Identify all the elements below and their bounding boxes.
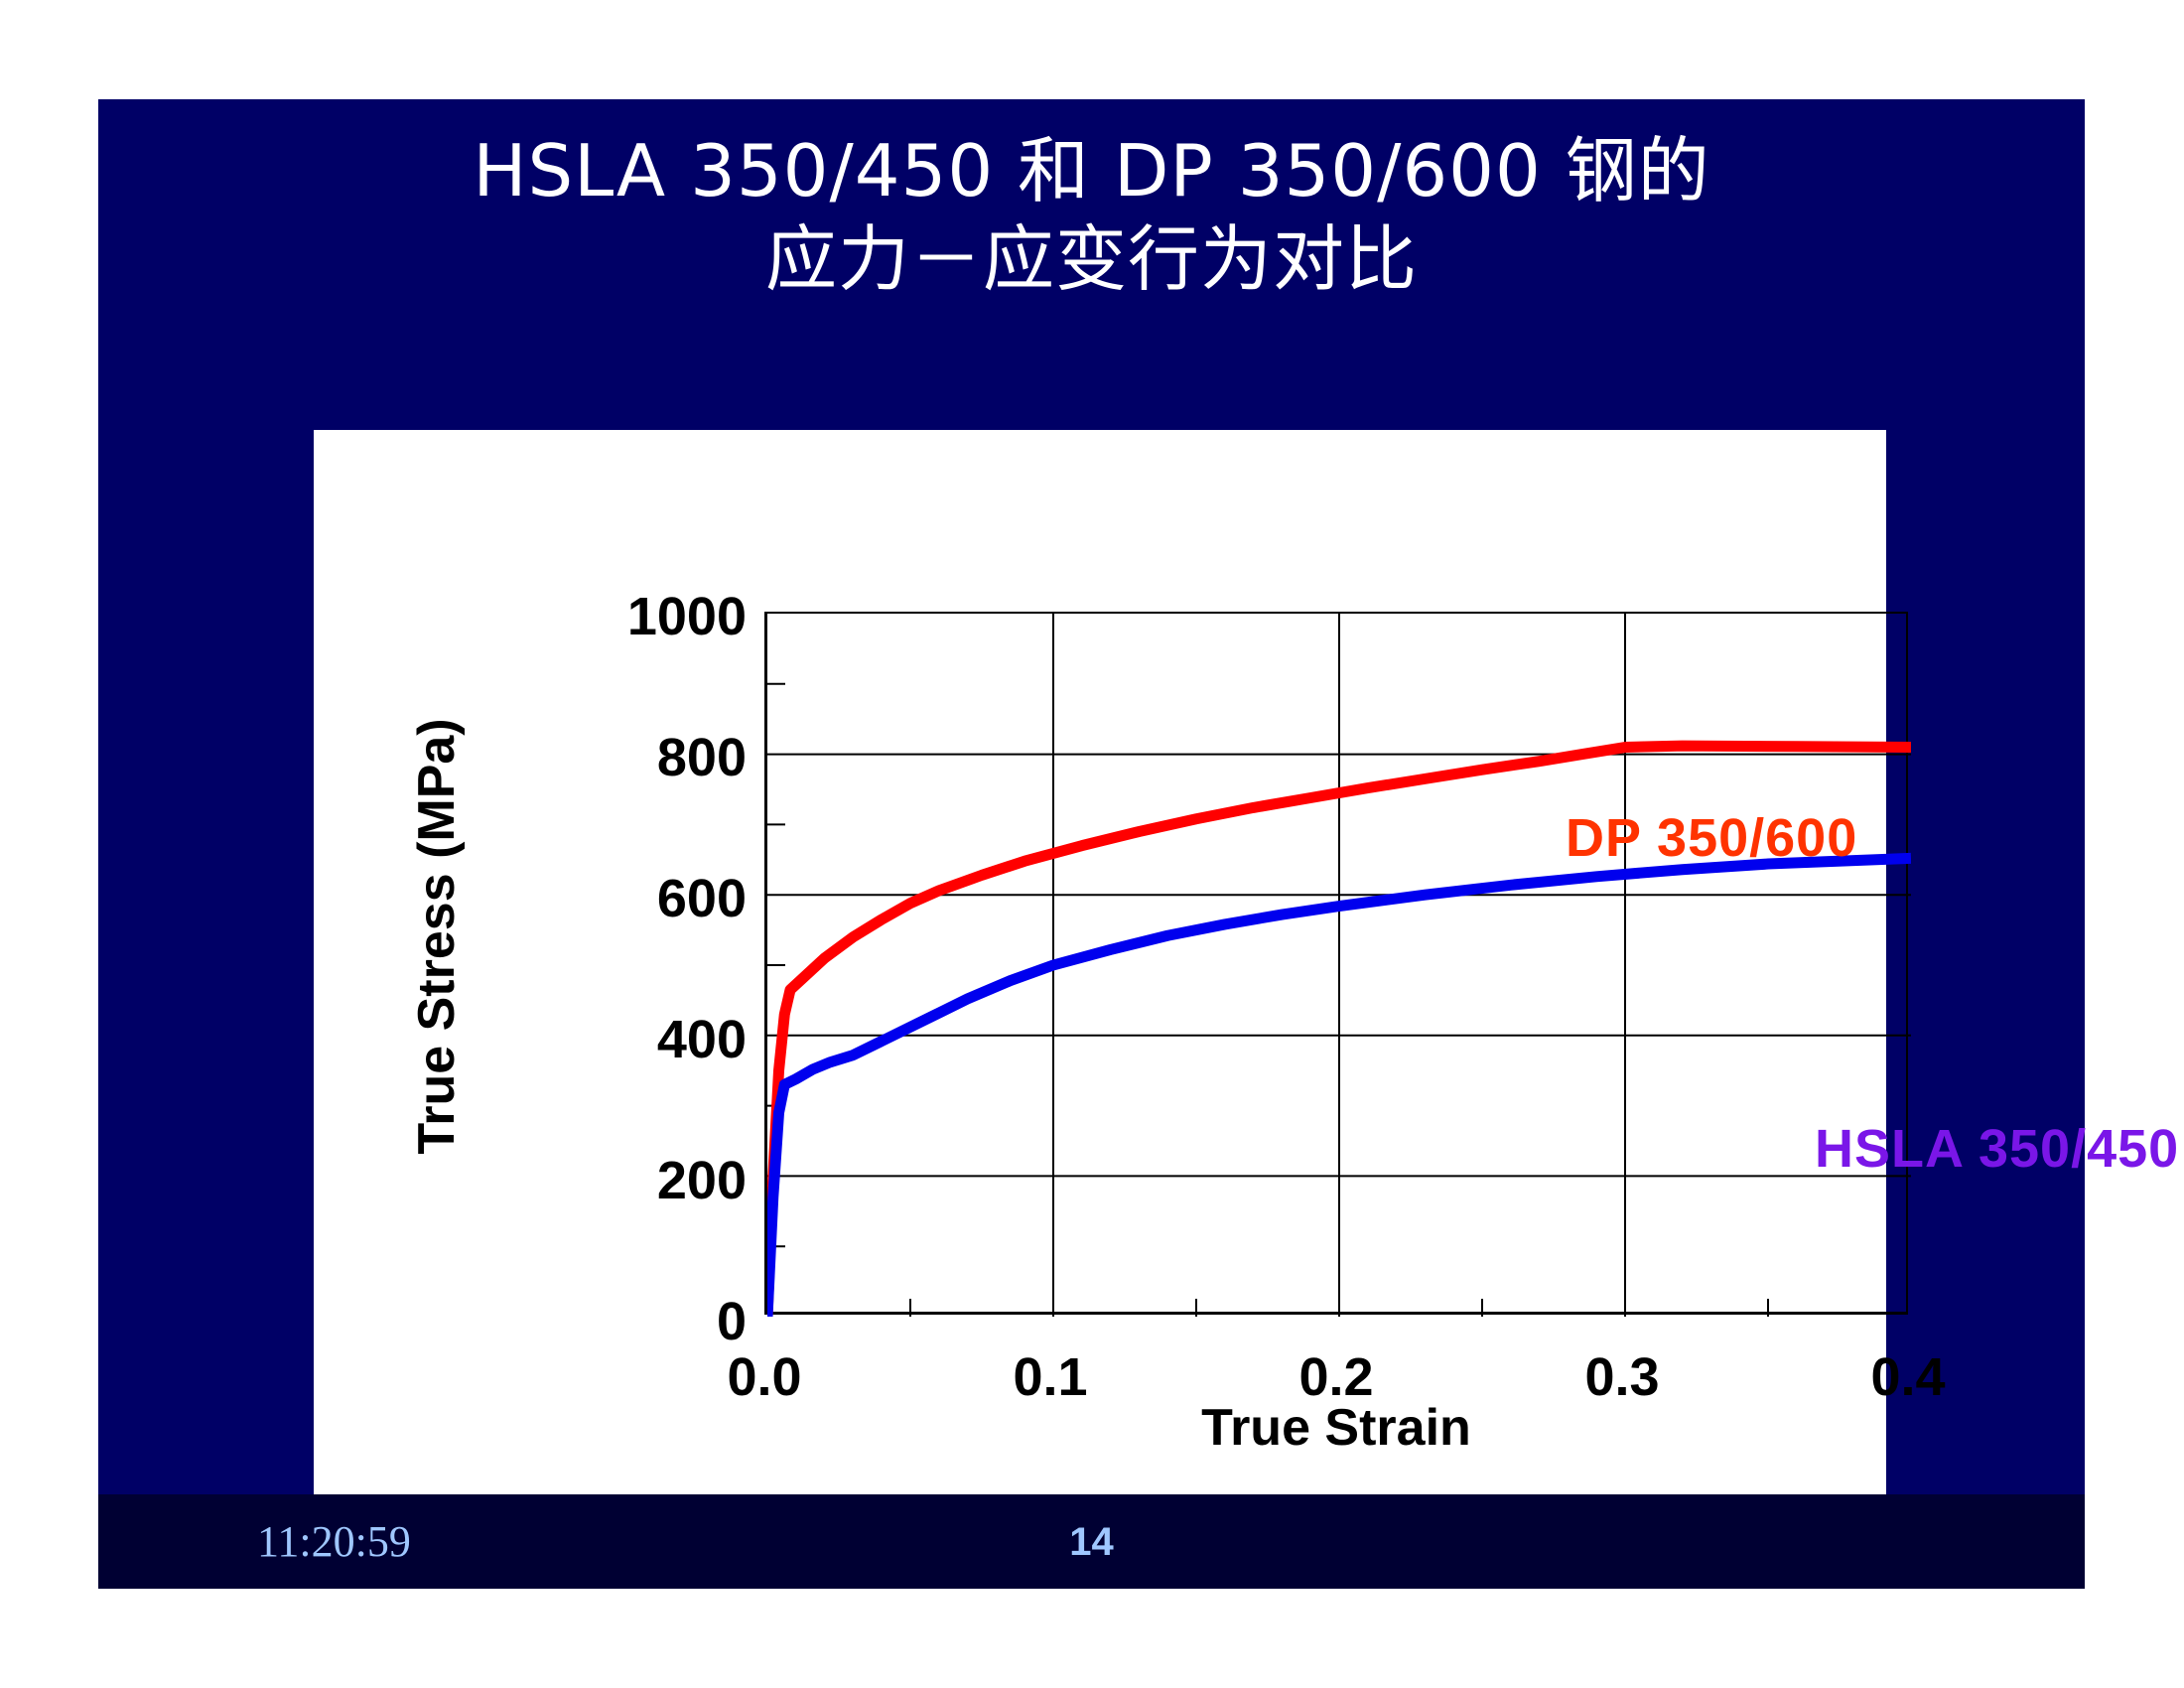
axis-minor-ticks <box>767 684 1768 1317</box>
chart-svg <box>767 614 1911 1317</box>
presentation-slide: HSLA 350/450 和 DP 350/600 钢的 应力－应变行为对比 1… <box>98 99 2085 1589</box>
plot-area: DP 350/600 HSLA 350/450 <box>764 612 1908 1315</box>
slide-footer: 11:20:59 14 <box>98 1494 2085 1589</box>
chart-panel: 1000 800 600 400 200 0 0.0 0.1 0.2 0.3 0… <box>314 430 1886 1494</box>
y-tick-1000: 1000 <box>498 586 747 647</box>
y-tick-600: 600 <box>498 868 747 929</box>
y-axis-title: True Stress (MPa) <box>407 619 467 1254</box>
y-tick-200: 200 <box>498 1150 747 1211</box>
slide-title: HSLA 350/450 和 DP 350/600 钢的 应力－应变行为对比 <box>98 127 2085 305</box>
gridlines <box>767 614 1911 1317</box>
series-label-dp: DP 350/600 <box>1566 807 1857 869</box>
y-tick-0: 0 <box>498 1291 747 1352</box>
series-label-hsla: HSLA 350/450 <box>1815 1118 2179 1180</box>
footer-page-number: 14 <box>98 1520 2085 1565</box>
y-tick-800: 800 <box>498 727 747 788</box>
x-axis-title: True Strain <box>764 1398 1908 1458</box>
y-tick-400: 400 <box>498 1009 747 1070</box>
